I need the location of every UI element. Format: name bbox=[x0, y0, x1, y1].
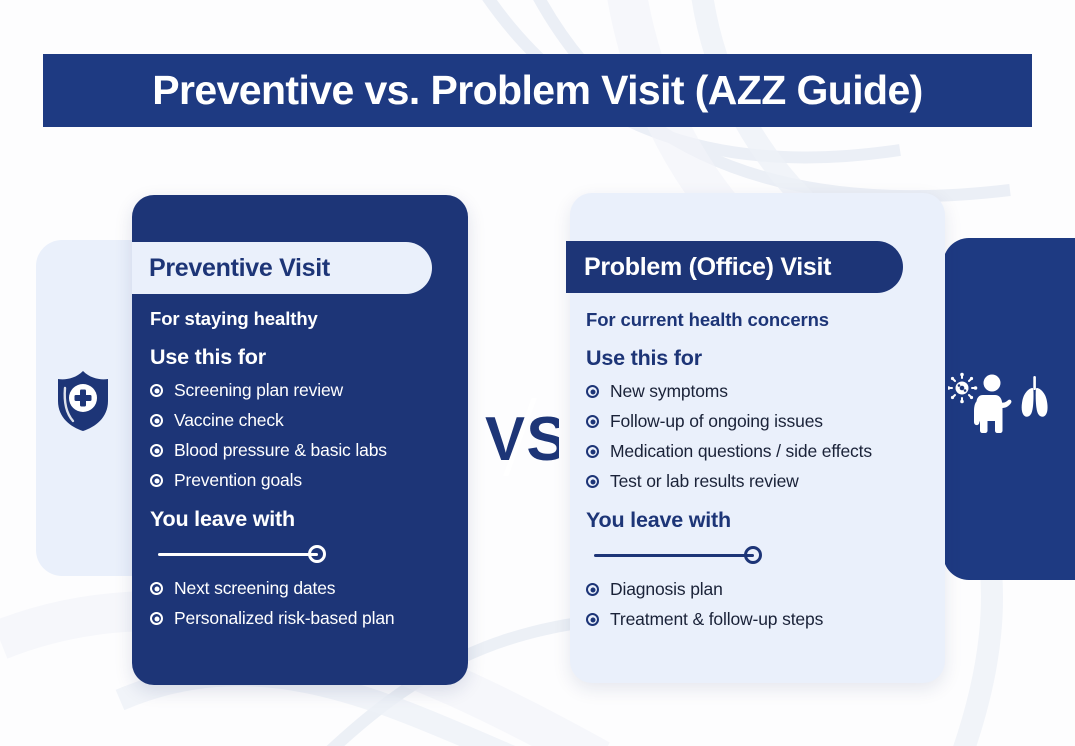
sick-person-icon bbox=[974, 375, 1011, 434]
problem-leave-list: Diagnosis plan Treatment & follow-up ste… bbox=[586, 579, 936, 630]
list-item-label: Treatment & follow-up steps bbox=[610, 609, 823, 630]
preventive-use-list: Screening plan review Vaccine check Bloo… bbox=[150, 380, 460, 491]
list-item: Medication questions / side effects bbox=[586, 441, 936, 462]
list-item-label: Personalized risk-based plan bbox=[174, 608, 395, 629]
preventive-subtitle: For staying healthy bbox=[150, 308, 460, 330]
bullet-icon bbox=[150, 444, 163, 457]
list-item: Diagnosis plan bbox=[586, 579, 936, 600]
list-item: Blood pressure & basic labs bbox=[150, 440, 460, 461]
list-item: Vaccine check bbox=[150, 410, 460, 431]
list-item-label: Follow-up of ongoing issues bbox=[610, 411, 823, 432]
bullet-icon bbox=[586, 445, 599, 458]
page-title-bar: Preventive vs. Problem Visit (AZZ Guide) bbox=[43, 54, 1032, 127]
list-item-label: Blood pressure & basic labs bbox=[174, 440, 387, 461]
page-title: Preventive vs. Problem Visit (AZZ Guide) bbox=[152, 67, 922, 114]
list-item: Treatment & follow-up steps bbox=[586, 609, 936, 630]
problem-card-body: For current health concerns Use this for… bbox=[586, 309, 936, 639]
slider-knob[interactable] bbox=[744, 546, 762, 564]
list-item: Next screening dates bbox=[150, 578, 460, 599]
preventive-progress-slider[interactable] bbox=[158, 544, 336, 564]
problem-leave-heading: You leave with bbox=[586, 508, 936, 533]
preventive-card-body: For staying healthy Use this for Screeni… bbox=[150, 308, 460, 638]
bullet-icon bbox=[150, 384, 163, 397]
problem-progress-slider[interactable] bbox=[594, 545, 772, 565]
list-item: Screening plan review bbox=[150, 380, 460, 401]
bullet-icon bbox=[150, 414, 163, 427]
bullet-icon bbox=[586, 415, 599, 428]
list-item-label: New symptoms bbox=[610, 381, 728, 402]
versus-label: VS bbox=[485, 405, 559, 474]
slider-track bbox=[158, 553, 318, 556]
preventive-leave-heading: You leave with bbox=[150, 507, 460, 532]
list-item-label: Test or lab results review bbox=[610, 471, 799, 492]
list-item-label: Screening plan review bbox=[174, 380, 343, 401]
list-item: Test or lab results review bbox=[586, 471, 936, 492]
bullet-icon bbox=[586, 583, 599, 596]
slider-track bbox=[594, 554, 754, 557]
list-item-label: Medication questions / side effects bbox=[610, 441, 872, 462]
bullet-icon bbox=[586, 385, 599, 398]
bullet-icon bbox=[150, 612, 163, 625]
problem-subtitle: For current health concerns bbox=[586, 309, 936, 331]
problem-use-list: New symptoms Follow-up of ongoing issues… bbox=[586, 381, 936, 492]
list-item-label: Vaccine check bbox=[174, 410, 284, 431]
lungs-icon bbox=[1022, 376, 1048, 417]
symptom-icons-group bbox=[948, 372, 1052, 434]
list-item: New symptoms bbox=[586, 381, 936, 402]
problem-use-heading: Use this for bbox=[586, 346, 936, 371]
bullet-icon bbox=[586, 475, 599, 488]
preventive-visit-title: Preventive Visit bbox=[149, 254, 330, 283]
list-item: Follow-up of ongoing issues bbox=[586, 411, 936, 432]
preventive-visit-pill: Preventive Visit bbox=[132, 242, 432, 294]
virus-icon bbox=[948, 373, 977, 404]
list-item-label: Diagnosis plan bbox=[610, 579, 723, 600]
shield-plus-icon bbox=[55, 370, 111, 432]
problem-visit-title: Problem (Office) Visit bbox=[584, 253, 831, 282]
slider-knob[interactable] bbox=[308, 545, 326, 563]
list-item-label: Next screening dates bbox=[174, 578, 335, 599]
preventive-use-heading: Use this for bbox=[150, 345, 460, 370]
bullet-icon bbox=[150, 582, 163, 595]
list-item: Personalized risk-based plan bbox=[150, 608, 460, 629]
preventive-leave-list: Next screening dates Personalized risk-b… bbox=[150, 578, 460, 629]
problem-visit-pill: Problem (Office) Visit bbox=[566, 241, 903, 293]
list-item: Prevention goals bbox=[150, 470, 460, 491]
list-item-label: Prevention goals bbox=[174, 470, 302, 491]
bullet-icon bbox=[586, 613, 599, 626]
versus-divider: VS bbox=[483, 398, 559, 476]
bullet-icon bbox=[150, 474, 163, 487]
